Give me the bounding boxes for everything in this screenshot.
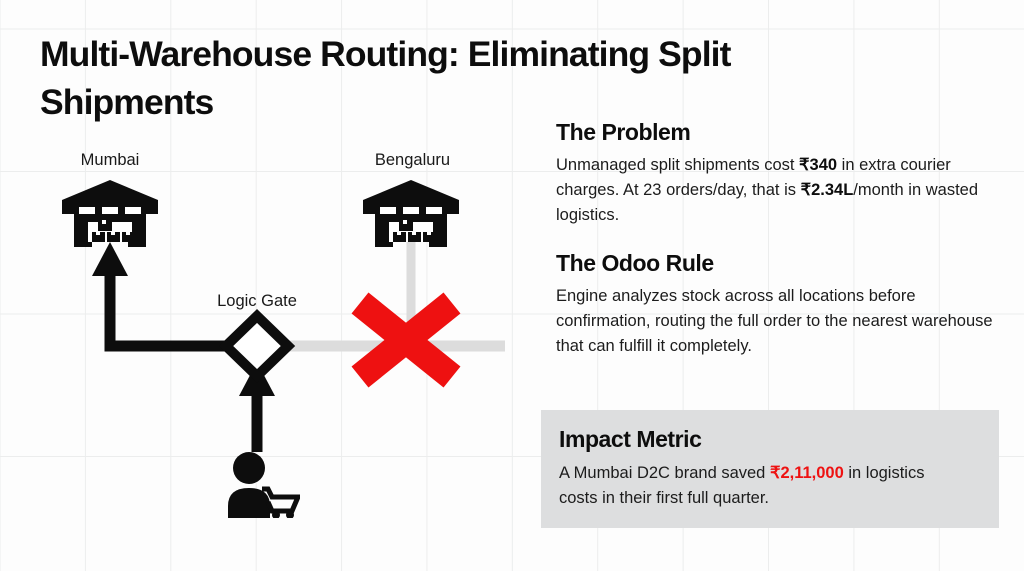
section-body: Unmanaged split shipments cost ₹340 in e…: [556, 153, 1001, 228]
diamond-decision-icon: [226, 316, 288, 376]
node-label-bengaluru: Bengaluru: [340, 152, 485, 169]
impact-metric-panel: Impact Metric A Mumbai D2C brand saved ₹…: [541, 410, 999, 528]
section-body: Engine analyzes stock across all locatio…: [556, 284, 1001, 359]
node-label-logic-gate: Logic Gate: [182, 293, 332, 310]
text-content-column: The Problem Unmanaged split shipments co…: [556, 120, 1001, 381]
section-heading: The Problem: [556, 120, 1001, 145]
warehouse-icon: [363, 180, 459, 247]
infographic-slide: Multi-Warehouse Routing: Eliminating Spl…: [0, 0, 1024, 571]
section-odoo-rule: The Odoo Rule Engine analyzes stock acro…: [556, 251, 1001, 360]
impact-metric-body: A Mumbai D2C brand saved ₹2,11,000 in lo…: [559, 461, 959, 511]
red-x-icon: [360, 303, 452, 377]
emphasis-value: ₹340: [799, 156, 837, 174]
section-problem: The Problem Unmanaged split shipments co…: [556, 120, 1001, 229]
warehouse-icon: [62, 180, 158, 247]
section-heading: The Odoo Rule: [556, 251, 1001, 276]
node-label-mumbai: Mumbai: [40, 152, 180, 169]
impact-metric-heading: Impact Metric: [559, 427, 999, 452]
customer-cart-icon: [222, 452, 300, 518]
emphasis-value: ₹2.34L: [801, 181, 854, 199]
page-title: Multi-Warehouse Routing: Eliminating Spl…: [40, 31, 960, 126]
routing-diagram: Mumbai Bengaluru: [0, 130, 520, 571]
emphasis-value: ₹2,11,000: [770, 464, 844, 482]
